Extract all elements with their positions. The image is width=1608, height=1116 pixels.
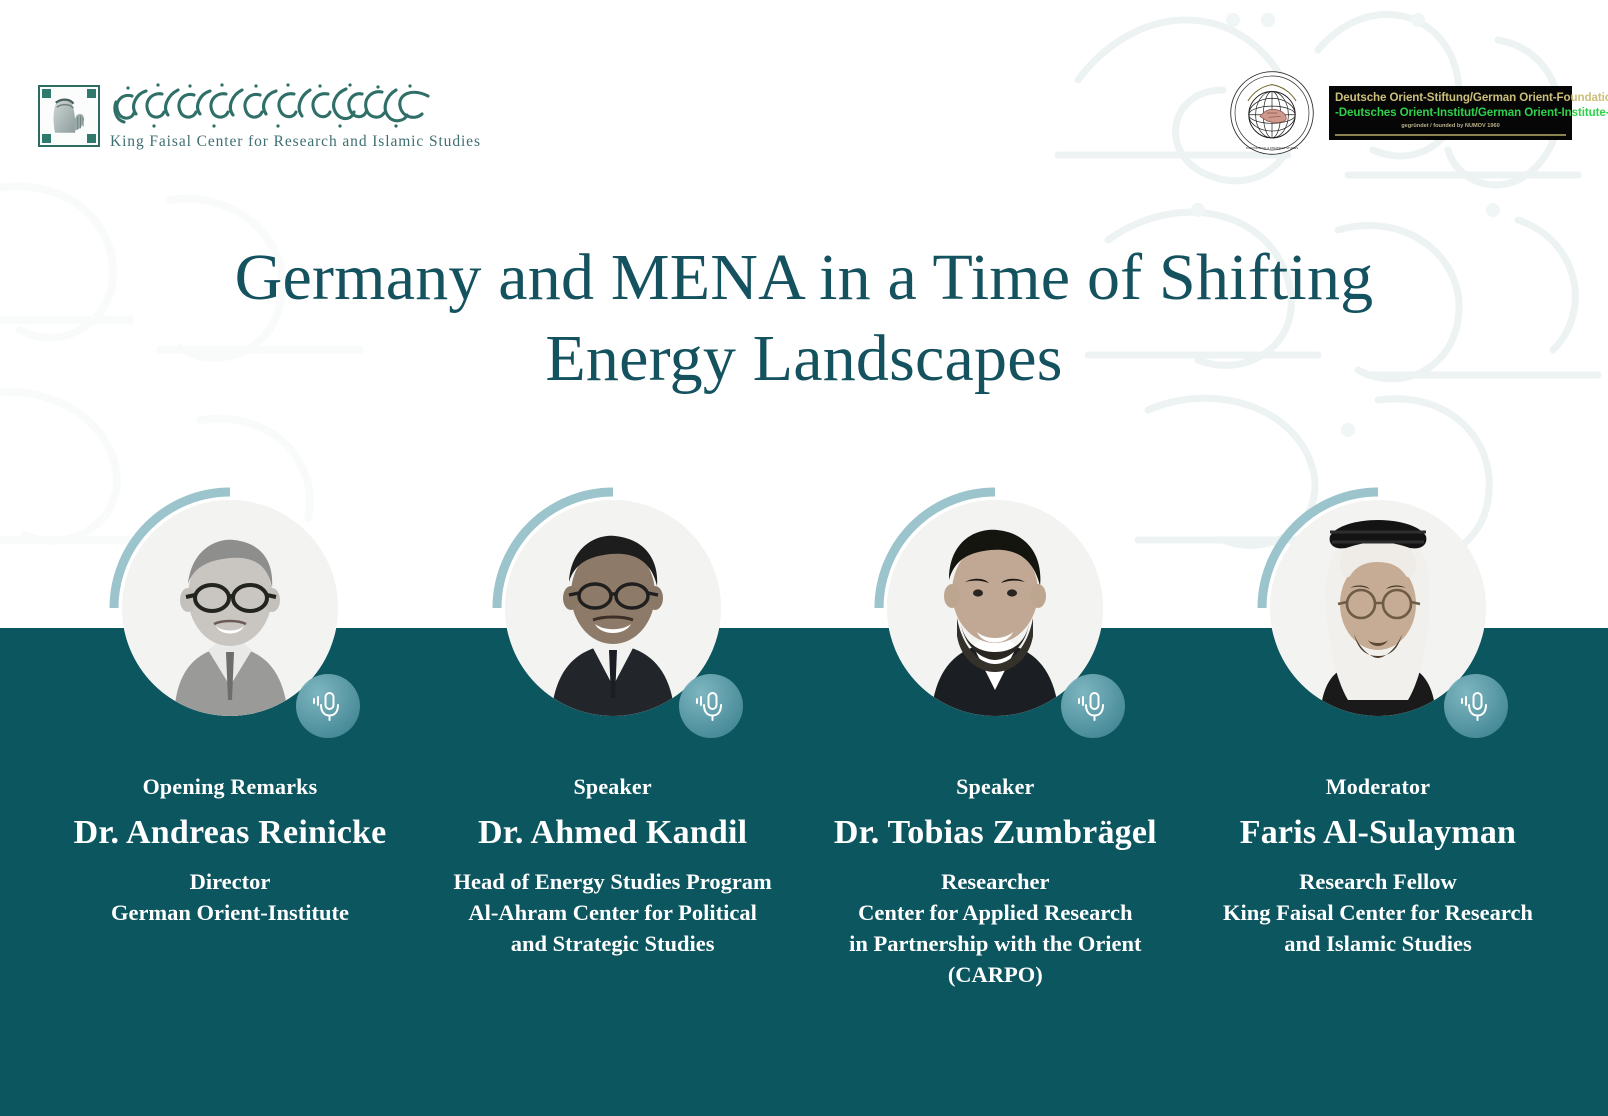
affiliation-line: Director — [111, 866, 349, 897]
page-title: Germany and MENA in a Time of Shifting E… — [0, 238, 1608, 399]
portrait-andreas-reinicke — [106, 484, 354, 732]
german-orient-logos: FOR POLITICAL & STRATEGIC STUDIES Deutsc… — [1229, 70, 1572, 156]
affiliation-line: Al-Ahram Center for Political — [453, 897, 771, 928]
speaker-affiliation: Head of Energy Studies Program Al-Ahram … — [453, 866, 771, 959]
microphone-icon — [679, 674, 743, 738]
doi-plate-line1: Deutsche Orient-Stiftung/German Orient-F… — [1335, 91, 1566, 104]
portrait-tobias-zumbragel — [871, 484, 1119, 732]
german-orient-institute-seal: FOR POLITICAL & STRATEGIC STUDIES — [1229, 70, 1315, 156]
title-line-1: Germany and MENA in a Time of Shifting — [120, 238, 1488, 319]
speakers-row: Opening Remarks Dr. Andreas Reinicke Dir… — [0, 484, 1608, 990]
speaker-card: Moderator Faris Al-Sulayman Research Fel… — [1194, 484, 1562, 990]
speaker-affiliation: Director German Orient-Institute — [111, 866, 349, 928]
portrait-faris-al-sulayman — [1254, 484, 1502, 732]
svg-text:FOR POLITICAL & STRATEGIC STUD: FOR POLITICAL & STRATEGIC STUDIES — [1246, 146, 1298, 150]
affiliation-line: King Faisal Center for Research — [1223, 897, 1533, 928]
speaker-role: Speaker — [956, 774, 1034, 800]
speaker-name: Dr. Tobias Zumbrägel — [834, 814, 1157, 852]
affiliation-line: and Islamic Studies — [1223, 928, 1533, 959]
speaker-role: Moderator — [1326, 774, 1430, 800]
affiliation-line: Research Fellow — [1223, 866, 1533, 897]
affiliation-line: Center for Applied Research — [849, 897, 1142, 928]
speaker-affiliation: Research Fellow King Faisal Center for R… — [1223, 866, 1533, 959]
doi-plate-rule — [1335, 134, 1566, 136]
affiliation-line: Researcher — [849, 866, 1142, 897]
speaker-card: Speaker Dr. Ahmed Kandil Head of Energy … — [429, 484, 797, 990]
doi-plate-line3: gegründet / founded by NUMOV 1960 — [1335, 123, 1566, 129]
speaker-card: Speaker Dr. Tobias Zumbrägel Researcher … — [811, 484, 1179, 990]
kfcris-portrait-emblem — [38, 85, 100, 147]
microphone-icon — [1061, 674, 1125, 738]
speaker-card: Opening Remarks Dr. Andreas Reinicke Dir… — [46, 484, 414, 990]
speaker-name: Dr. Ahmed Kandil — [478, 814, 747, 852]
kfcris-english-wordmark: King Faisal Center for Research and Isla… — [110, 133, 481, 151]
affiliation-line: (CARPO) — [849, 959, 1142, 990]
affiliation-line: in Partnership with the Orient — [849, 928, 1142, 959]
speaker-role: Opening Remarks — [143, 774, 318, 800]
speaker-name: Faris Al-Sulayman — [1240, 814, 1516, 852]
deutsche-orient-stiftung-plate: Deutsche Orient-Stiftung/German Orient-F… — [1329, 86, 1572, 140]
affiliation-line: Head of Energy Studies Program — [453, 866, 771, 897]
affiliation-line: and Strategic Studies — [453, 928, 771, 959]
king-faisal-center-logo: King Faisal Center for Research and Isla… — [38, 80, 481, 151]
microphone-icon — [296, 674, 360, 738]
portrait-ahmed-kandil — [489, 484, 737, 732]
doi-plate-line2: -Deutsches Orient-Institut/German Orient… — [1335, 106, 1566, 119]
title-line-2: Energy Landscapes — [120, 319, 1488, 400]
event-poster: King Faisal Center for Research and Isla… — [0, 0, 1608, 1116]
speaker-role: Speaker — [573, 774, 651, 800]
microphone-icon — [1444, 674, 1508, 738]
affiliation-line: German Orient-Institute — [111, 897, 349, 928]
speaker-name: Dr. Andreas Reinicke — [74, 814, 387, 852]
kfcris-arabic-wordmark — [110, 80, 432, 132]
speaker-affiliation: Researcher Center for Applied Research i… — [849, 866, 1142, 990]
